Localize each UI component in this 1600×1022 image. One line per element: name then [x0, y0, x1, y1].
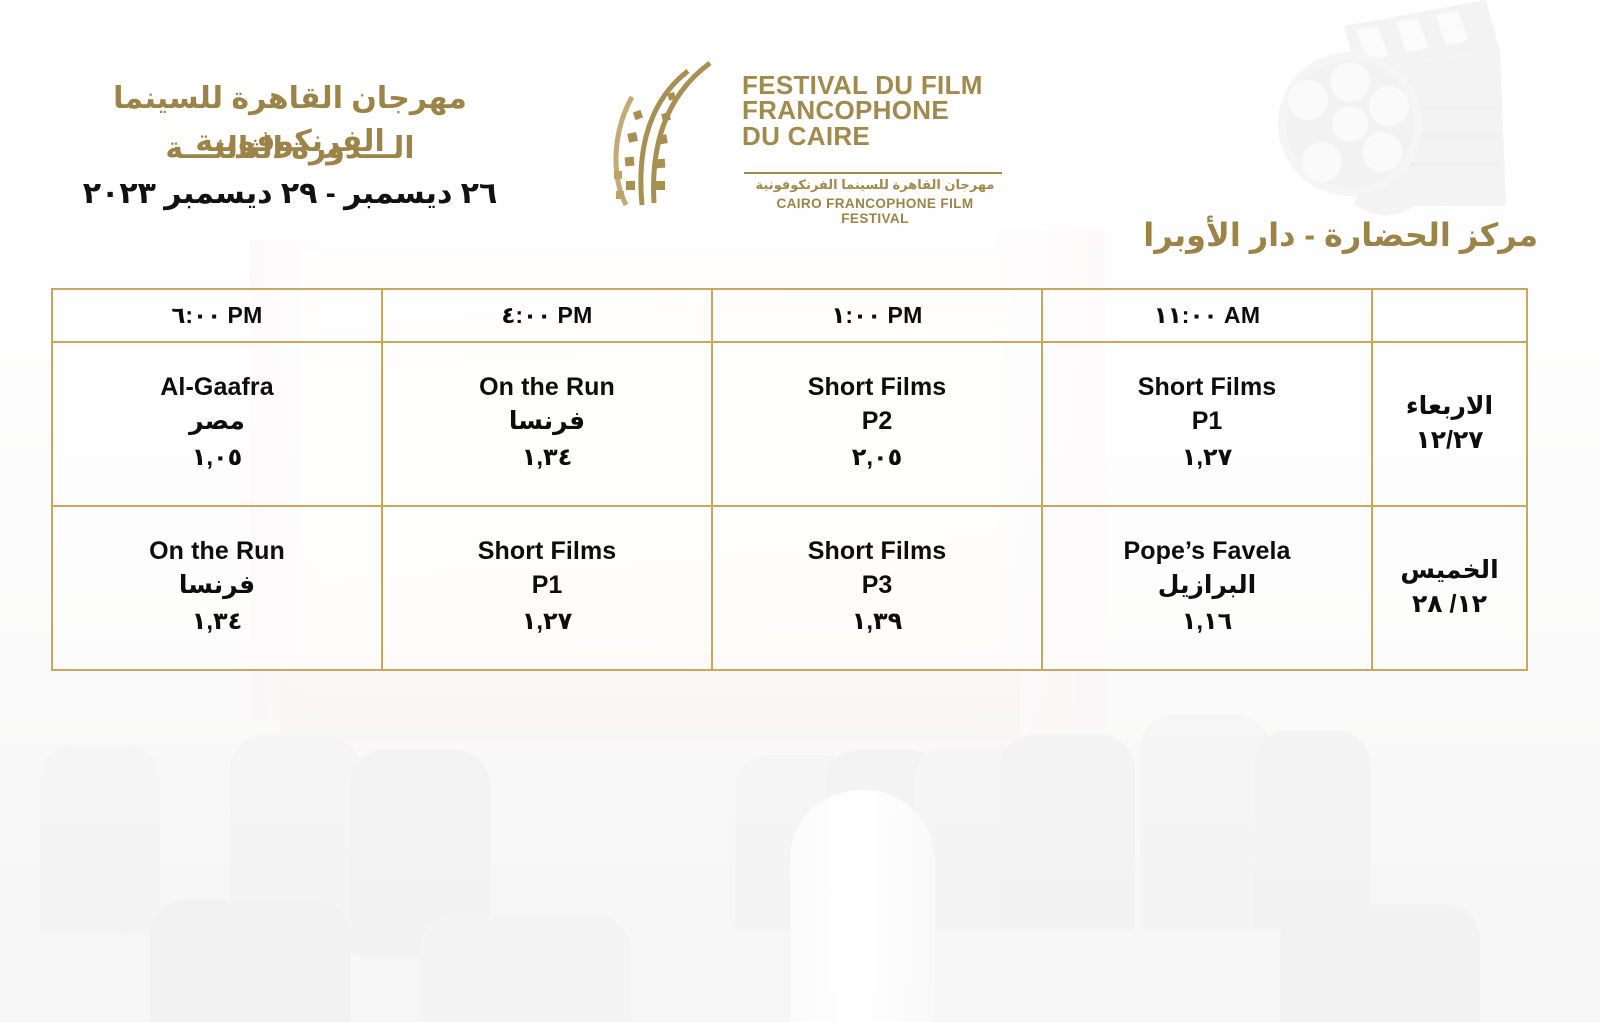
film-duration: ٢,٠٥: [717, 441, 1037, 476]
screening-cell[interactable]: Short FilmsP3١,٣٩: [712, 506, 1042, 670]
time-header-2: ٤:٠٠ PM: [382, 289, 712, 342]
time-header-4: ١١:٠٠ AM: [1042, 289, 1372, 342]
film-duration: ١,١٦: [1047, 605, 1367, 640]
time-header-1: ٦:٠٠ PM: [52, 289, 382, 342]
film-duration: ١,٣٤: [387, 441, 707, 476]
film-title: Pope’s Favela: [1047, 536, 1367, 567]
film-program-part: P1: [387, 567, 707, 605]
venue-title: مركز الحضارة - دار الأوبرا: [1143, 216, 1538, 254]
screening-cell[interactable]: Pope’s Favelaالبرازيل١,١٦: [1042, 506, 1372, 670]
film-program-part: P2: [717, 403, 1037, 441]
day-cell: الاربعاء١٢/٢٧: [1372, 342, 1527, 506]
day-header-empty: [1372, 289, 1527, 342]
film-title: On the Run: [57, 536, 377, 567]
table-row: Al-Gaafraمصر١,٠٥On the Runفرنسا١,٣٤Short…: [52, 342, 1527, 506]
film-title: On the Run: [387, 372, 707, 403]
filmstrip-logo-mark: [610, 55, 740, 215]
logo-wordmark: FESTIVAL DU FILM FRANCOPHONE DU CAIRE: [742, 73, 1008, 149]
screening-cell[interactable]: Short FilmsP1١,٢٧: [1042, 342, 1372, 506]
film-duration: ١,٢٧: [1047, 441, 1367, 476]
film-country: فرنسا: [387, 403, 707, 441]
logo-subtitle-arabic: مهرجان القاهرة للسينما الفرنكوفونية: [742, 177, 1008, 193]
film-title: Short Films: [387, 536, 707, 567]
film-title: Al-Gaafra: [57, 372, 377, 403]
poster-header: مهرجان القاهرة للسينما الفرنكوفونية الــ…: [0, 0, 1600, 270]
film-program-part: P3: [717, 567, 1037, 605]
film-title: Short Films: [717, 372, 1037, 403]
festival-logo: FESTIVAL DU FILM FRANCOPHONE DU CAIRE مه…: [610, 55, 1010, 225]
festival-dates-arabic: ٢٦ ديسمبر - ٢٩ ديسمبر ٢٠٢٣: [55, 176, 525, 211]
day-date: ١٢/٢٧: [1377, 424, 1522, 458]
table-header-row: ٦:٠٠ PM ٤:٠٠ PM ١:٠٠ PM ١١:٠٠ AM: [52, 289, 1527, 342]
day-name: الخميس: [1377, 554, 1522, 588]
screening-cell[interactable]: Al-Gaafraمصر١,٠٥: [52, 342, 382, 506]
day-cell: الخميس١٢/ ٢٨: [1372, 506, 1527, 670]
film-program-part: P1: [1047, 403, 1367, 441]
screening-cell[interactable]: On the Runفرنسا١,٣٤: [52, 506, 382, 670]
film-title: Short Films: [717, 536, 1037, 567]
day-name: الاربعاء: [1377, 390, 1522, 424]
film-country: مصر: [57, 403, 377, 441]
logo-subtitle-english: CAIRO FRANCOPHONE FILM FESTIVAL: [742, 196, 1008, 226]
film-country: فرنسا: [57, 567, 377, 605]
film-duration: ١,٣٩: [717, 605, 1037, 640]
film-country: البرازيل: [1047, 567, 1367, 605]
festival-edition-arabic: الـــدورة الثالثـــة: [55, 131, 525, 166]
film-duration: ١,٢٧: [387, 605, 707, 640]
screening-cell[interactable]: Short FilmsP1١,٢٧: [382, 506, 712, 670]
day-date: ١٢/ ٢٨: [1377, 588, 1522, 622]
table-row: On the Runفرنسا١,٣٤Short FilmsP1١,٢٧Shor…: [52, 506, 1527, 670]
screening-schedule-table: ٦:٠٠ PM ٤:٠٠ PM ١:٠٠ PM ١١:٠٠ AM Al-Gaaf…: [51, 288, 1528, 671]
screening-cell[interactable]: Short FilmsP2٢,٠٥: [712, 342, 1042, 506]
film-title: Short Films: [1047, 372, 1367, 403]
film-duration: ١,٠٥: [57, 441, 377, 476]
logo-divider-rule: [744, 172, 1002, 174]
logo-line-3: DU CAIRE: [742, 124, 1008, 149]
film-duration: ١,٣٤: [57, 605, 377, 640]
time-header-3: ١:٠٠ PM: [712, 289, 1042, 342]
screening-cell[interactable]: On the Runفرنسا١,٣٤: [382, 342, 712, 506]
